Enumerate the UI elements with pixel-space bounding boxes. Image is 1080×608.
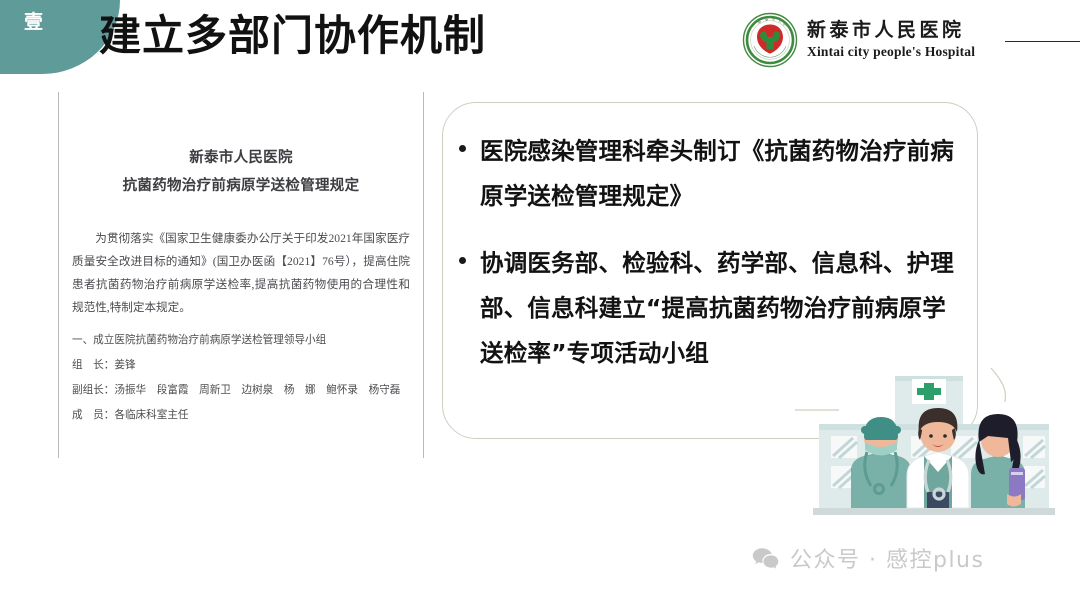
document-title-line-2: 抗菌药物治疗前病原学送检管理规定 — [72, 172, 410, 200]
bullet-dot-icon — [459, 257, 466, 264]
section-number-label: 壹 — [24, 13, 43, 32]
bullet-dot-icon — [459, 145, 466, 152]
document-edge-left — [58, 92, 59, 458]
hospital-name-en: Xintai city people's Hospital — [807, 43, 975, 61]
document-edge-right — [423, 92, 424, 458]
header-divider-line — [1005, 41, 1080, 42]
bullet-item: 医院感染管理科牵头制订《抗菌药物治疗前病原学送检管理规定》 — [459, 129, 963, 219]
wechat-icon — [752, 547, 779, 569]
bullet-text: 医院感染管理科牵头制订《抗菌药物治疗前病原学送检管理规定》 — [480, 129, 963, 219]
document-paragraph: 为贯彻落实《国家卫生健康委办公厅关于印发2021年国家医疗质量安全改进目标的通知… — [72, 227, 410, 320]
document-paragraph-text: 为贯彻落实《国家卫生健康委办公厅关于印发2021年国家医疗质量安全改进目标的通知… — [72, 227, 410, 320]
list-item: 副组长：汤振华 段富霞 周新卫 边树泉 杨 娜 鲍怀录 杨守磊 — [72, 379, 410, 404]
document-title: 新泰市人民医院 抗菌药物治疗前病原学送检管理规定 — [72, 144, 410, 201]
svg-text:民: 民 — [783, 22, 786, 26]
document-scan-pane: 新泰市人民医院 抗菌药物治疗前病原学送检管理规定 为贯彻落实《国家卫生健康委办公… — [58, 92, 424, 458]
page-title: 建立多部门协作机制 — [99, 12, 486, 60]
bullet-text: 协调医务部、检验科、药学部、信息科、护理部、信息科建立“提高抗菌药物治疗前病原学… — [480, 241, 963, 376]
watermark-label: 公众号 · 感控plus — [790, 542, 984, 574]
hospital-emblem-icon: 新泰市人民 — [742, 12, 798, 68]
wechat-watermark: 公众号 · 感控plus — [752, 542, 984, 574]
list-item: 组 长：姜锋 — [72, 354, 410, 379]
bullet-item: 协调医务部、检验科、药学部、信息科、护理部、信息科建立“提高抗菌药物治疗前病原学… — [459, 241, 963, 376]
document-list: 一、成立医院抗菌药物治疗前病原学送检管理领导小组 组 长：姜锋 副组长：汤振华 … — [72, 329, 410, 429]
document-title-line-1: 新泰市人民医院 — [72, 144, 410, 172]
slide-root: 壹 建立多部门协作机制 新泰市人民 新泰市人民医院 Xintai city pe… — [0, 0, 1080, 608]
medical-team-illustration — [795, 368, 1080, 530]
bullet-list: 医院感染管理科牵头制订《抗菌药物治疗前病原学送检管理规定》 协调医务部、检验科、… — [459, 129, 963, 399]
hospital-logo: 新泰市人民 新泰市人民医院 Xintai city people's Hospi… — [742, 12, 975, 68]
hospital-name-cn: 新泰市人民医院 — [807, 19, 975, 43]
list-item: 一、成立医院抗菌药物治疗前病原学送检管理领导小组 — [72, 329, 410, 354]
list-item: 成 员：各临床科室主任 — [72, 404, 410, 429]
hospital-logo-text: 新泰市人民医院 Xintai city people's Hospital — [807, 19, 975, 60]
